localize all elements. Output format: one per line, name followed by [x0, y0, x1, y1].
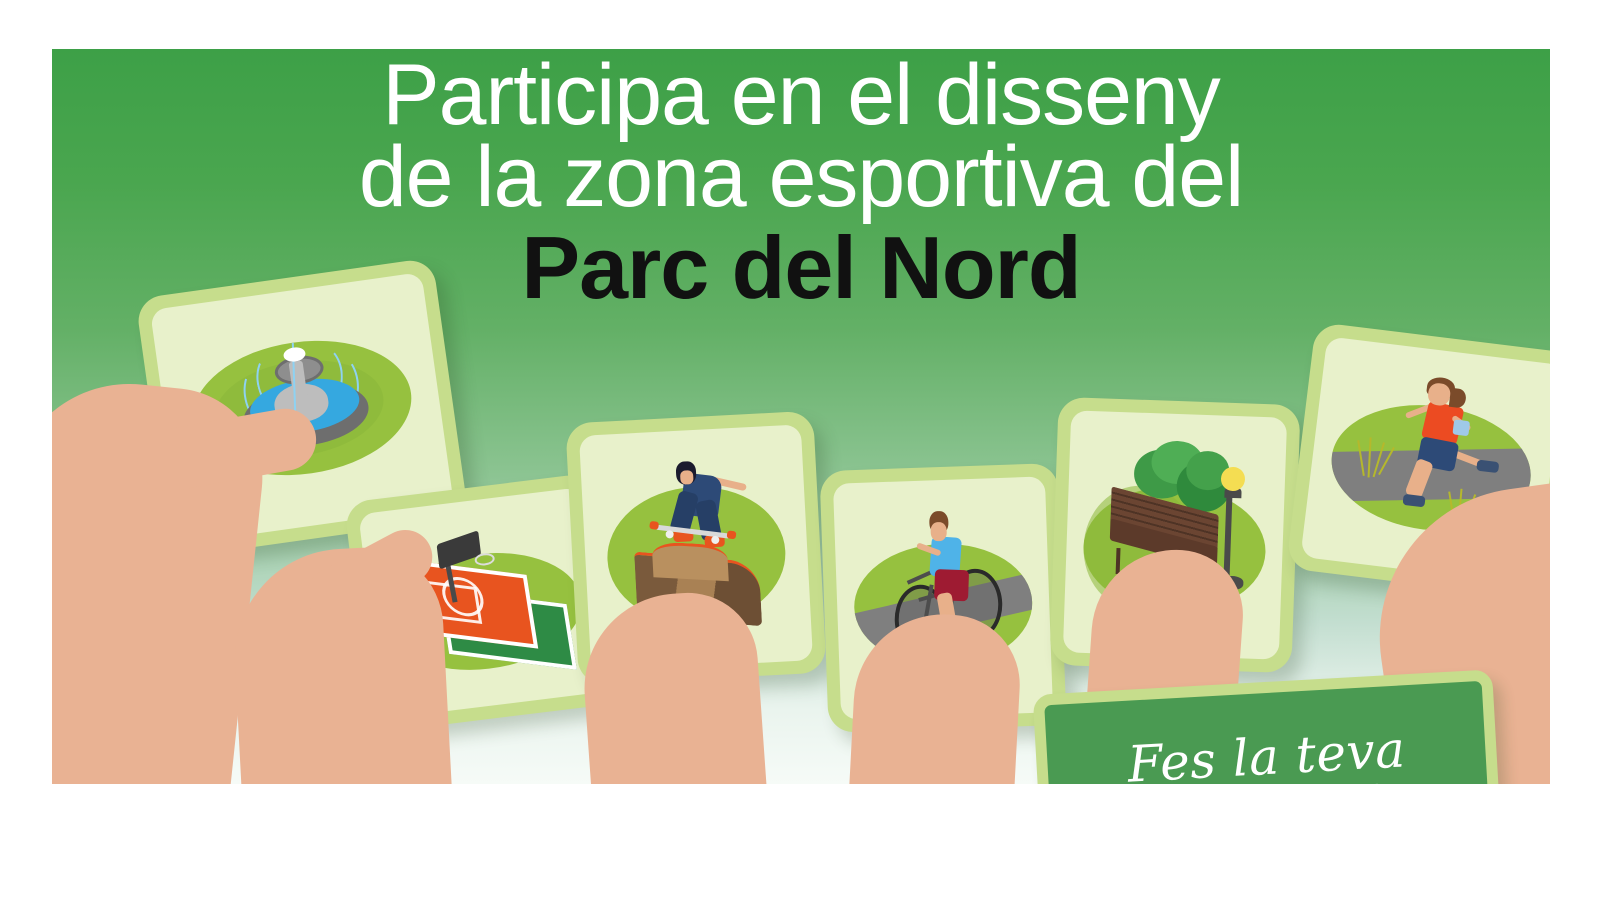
footer-bar: Ajuntament de Sabadell Hi col·labora: Di…	[0, 786, 1600, 900]
skater-face	[680, 470, 694, 485]
banner-panel: Fes la teva aportació!	[52, 49, 1550, 784]
lamppost-light-icon	[1221, 466, 1246, 491]
skate-ramp-crest	[651, 542, 729, 582]
skateboard-nose	[649, 521, 659, 530]
runner-armband-icon	[1452, 419, 1470, 436]
runner-ponytail	[1448, 387, 1467, 409]
cta-text: Fes la teva aportació!	[1126, 721, 1410, 784]
cta-line-1: Fes la teva	[1126, 720, 1407, 784]
banner-stage: Fes la teva aportació! Participa en el d…	[0, 0, 1600, 900]
